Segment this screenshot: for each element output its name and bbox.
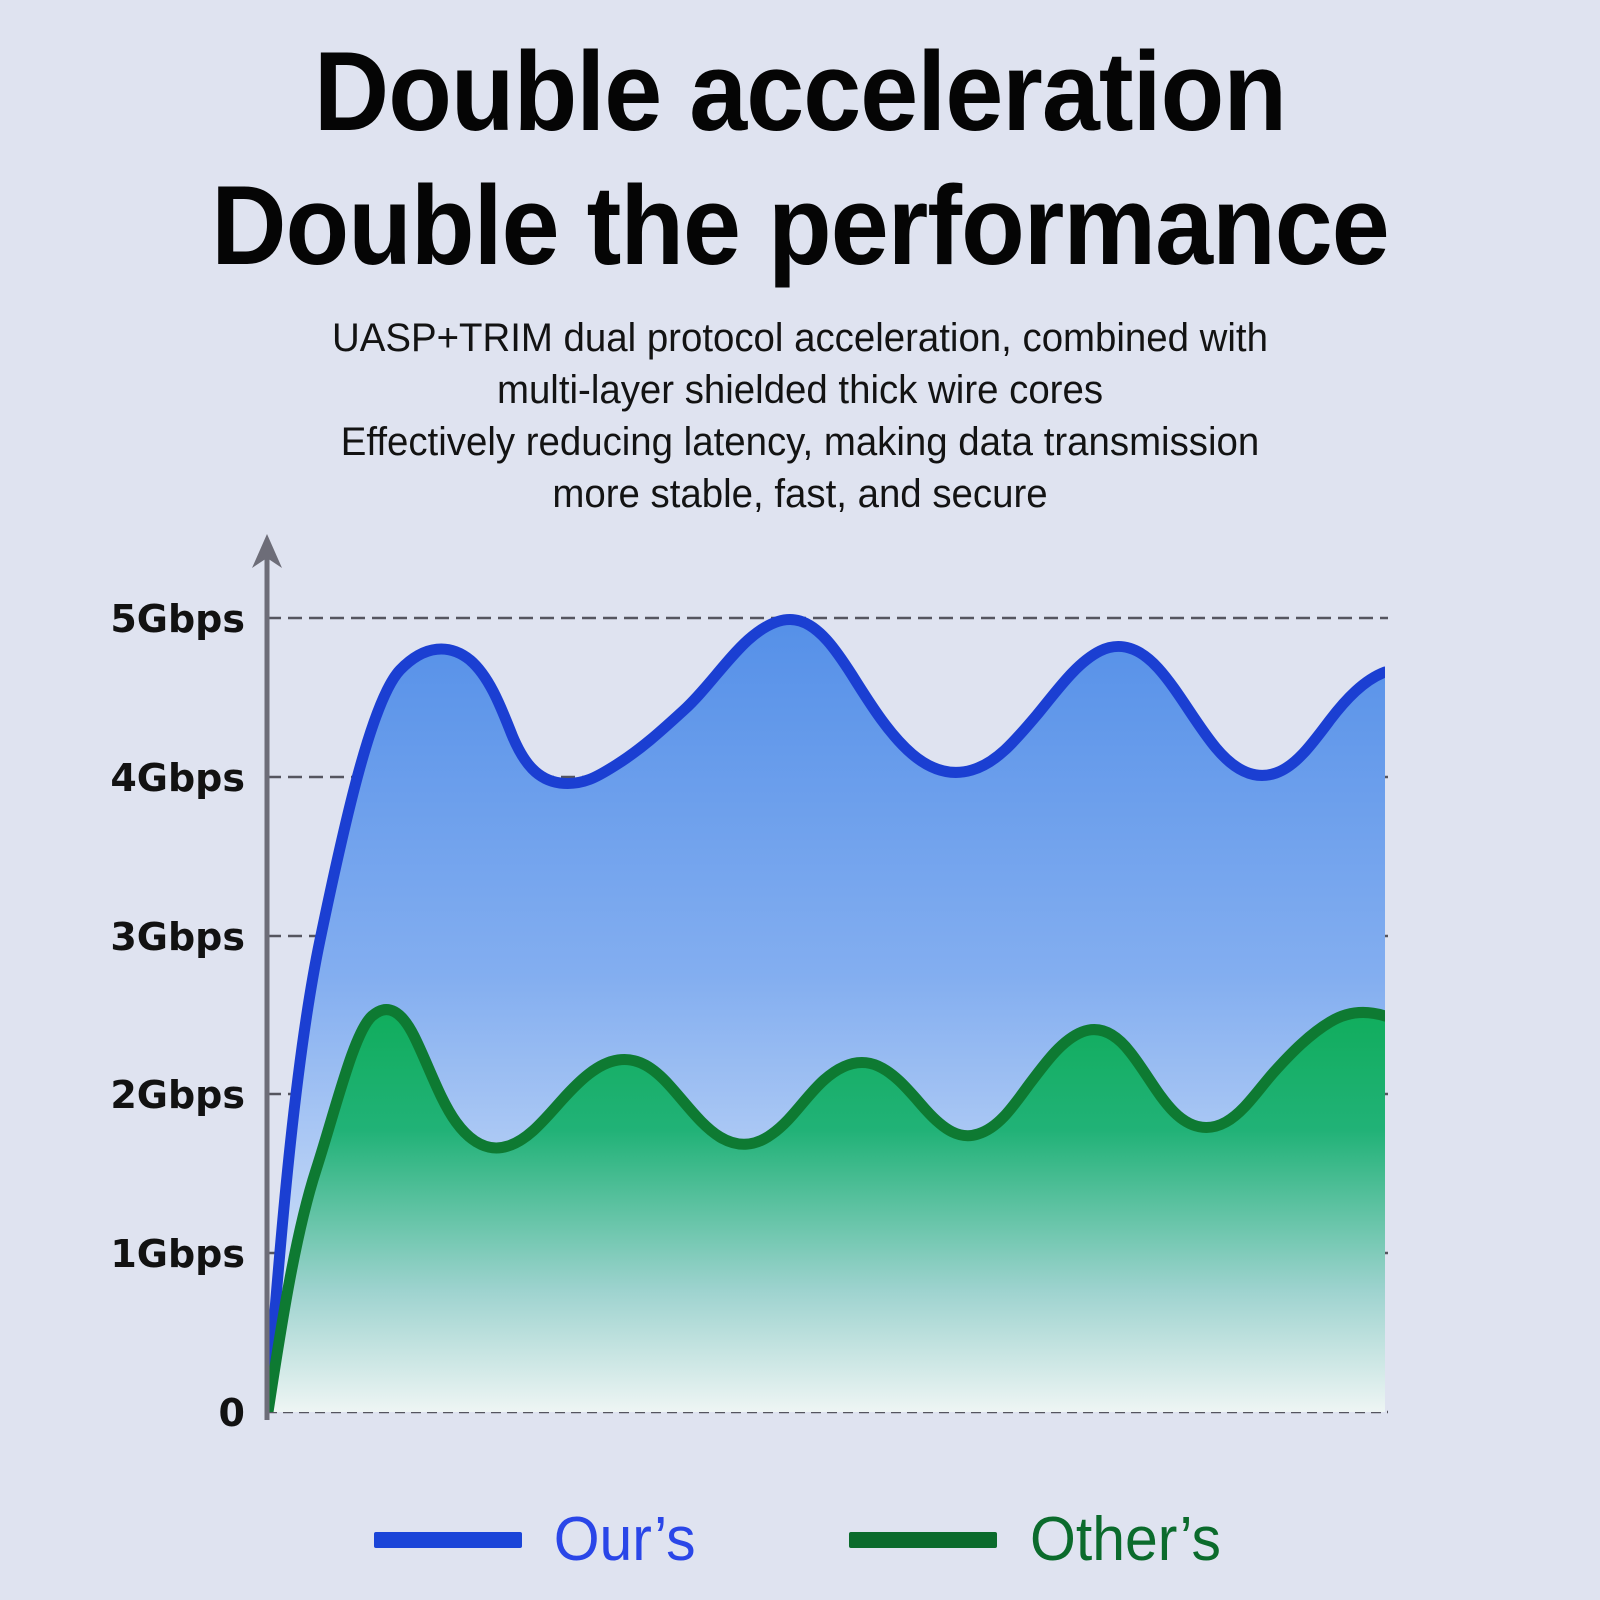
- performance-area-chart: 5Gbps 4Gbps 3Gbps 2Gbps 1Gbps 0: [0, 520, 1600, 1480]
- page-title-line-2: Double the performance: [56, 148, 1544, 282]
- legend-swatch-others: [849, 1532, 997, 1548]
- legend-item-ours[interactable]: Our’s: [374, 1509, 699, 1571]
- subtitle-line-2: multi-layer shielded thick wire cores: [32, 364, 1568, 416]
- legend-label-ours: Our’s: [554, 1509, 696, 1571]
- legend-swatch-ours: [374, 1532, 522, 1548]
- subtitle-line-4: more stable, fast, and secure: [32, 468, 1568, 520]
- y-tick-label-2gbps: 2Gbps: [110, 1073, 245, 1117]
- chart-svg: 5Gbps 4Gbps 3Gbps 2Gbps 1Gbps 0: [0, 520, 1600, 1480]
- chart-legend: Our’s Other’s: [0, 1495, 1600, 1585]
- y-tick-label-0: 0: [219, 1391, 245, 1435]
- y-tick-label-5gbps: 5Gbps: [110, 597, 245, 641]
- series-group: [267, 620, 1385, 1412]
- y-tick-label-1gbps: 1Gbps: [110, 1232, 245, 1276]
- legend-label-others: Other’s: [1030, 1509, 1221, 1571]
- subtitle-line-3: Effectively reducing latency, making dat…: [32, 416, 1568, 468]
- subtitle-line-1: UASP+TRIM dual protocol acceleration, co…: [32, 312, 1568, 364]
- legend-item-others[interactable]: Other’s: [849, 1509, 1226, 1571]
- y-tick-label-3gbps: 3Gbps: [110, 915, 245, 959]
- page-title-line-1: Double acceleration: [56, 0, 1544, 148]
- y-axis-tick-labels: 5Gbps 4Gbps 3Gbps 2Gbps 1Gbps 0: [110, 597, 245, 1435]
- page-subtitle: UASP+TRIM dual protocol acceleration, co…: [32, 312, 1568, 520]
- header-block: Double acceleration Double the performan…: [0, 0, 1600, 520]
- y-tick-label-4gbps: 4Gbps: [110, 756, 245, 800]
